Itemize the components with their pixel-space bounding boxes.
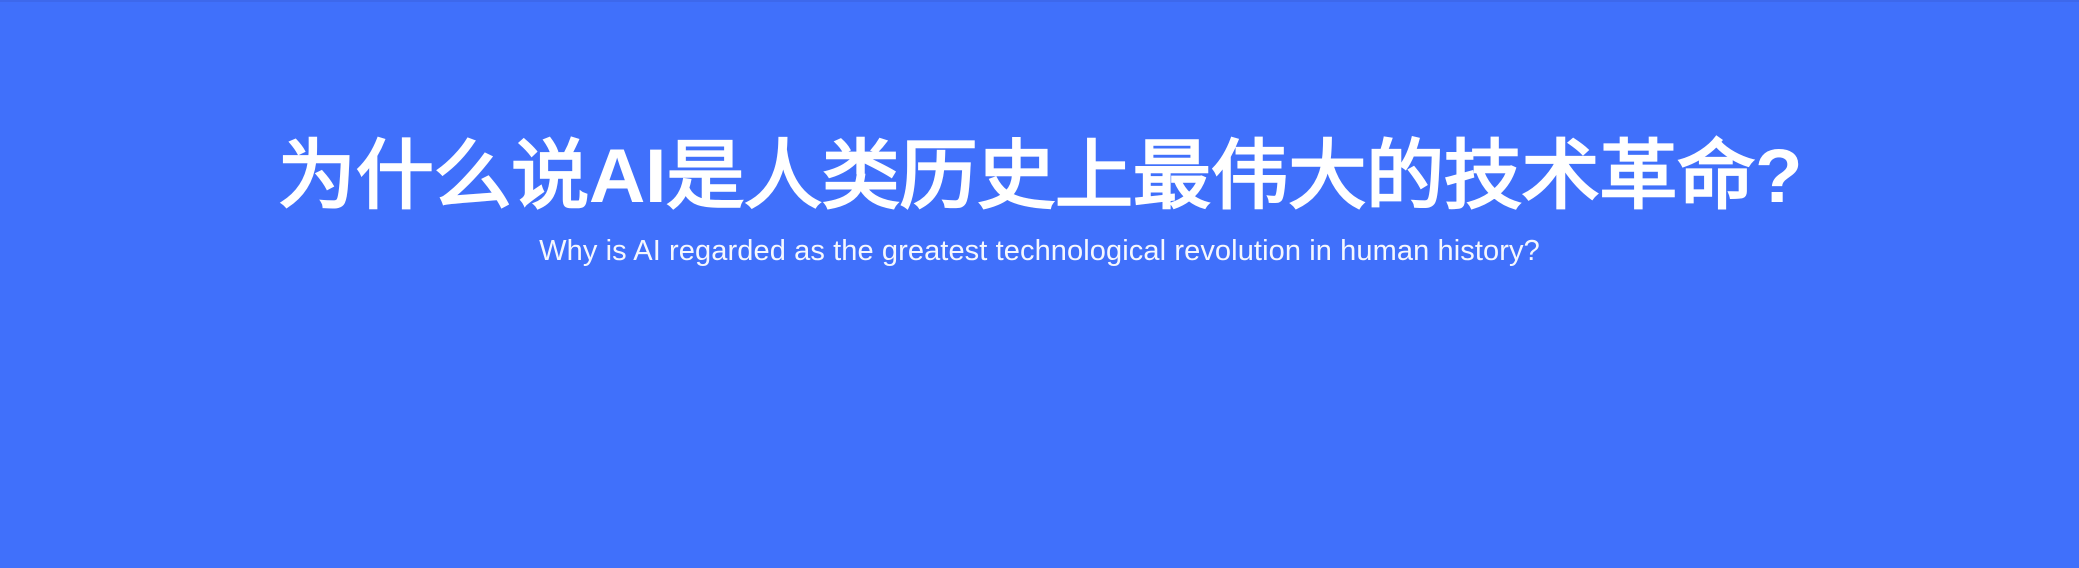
page-title: 为什么说AI是人类历史上最伟大的技术革命?: [277, 134, 1801, 219]
top-edge-divider: [0, 0, 2079, 2]
page-subtitle: Why is AI regarded as the greatest techn…: [539, 233, 1540, 271]
title-slide: 为什么说AI是人类历史上最伟大的技术革命? Why is AI regarded…: [0, 0, 2079, 568]
title-block: 为什么说AI是人类历史上最伟大的技术革命? Why is AI regarded…: [0, 134, 2079, 271]
